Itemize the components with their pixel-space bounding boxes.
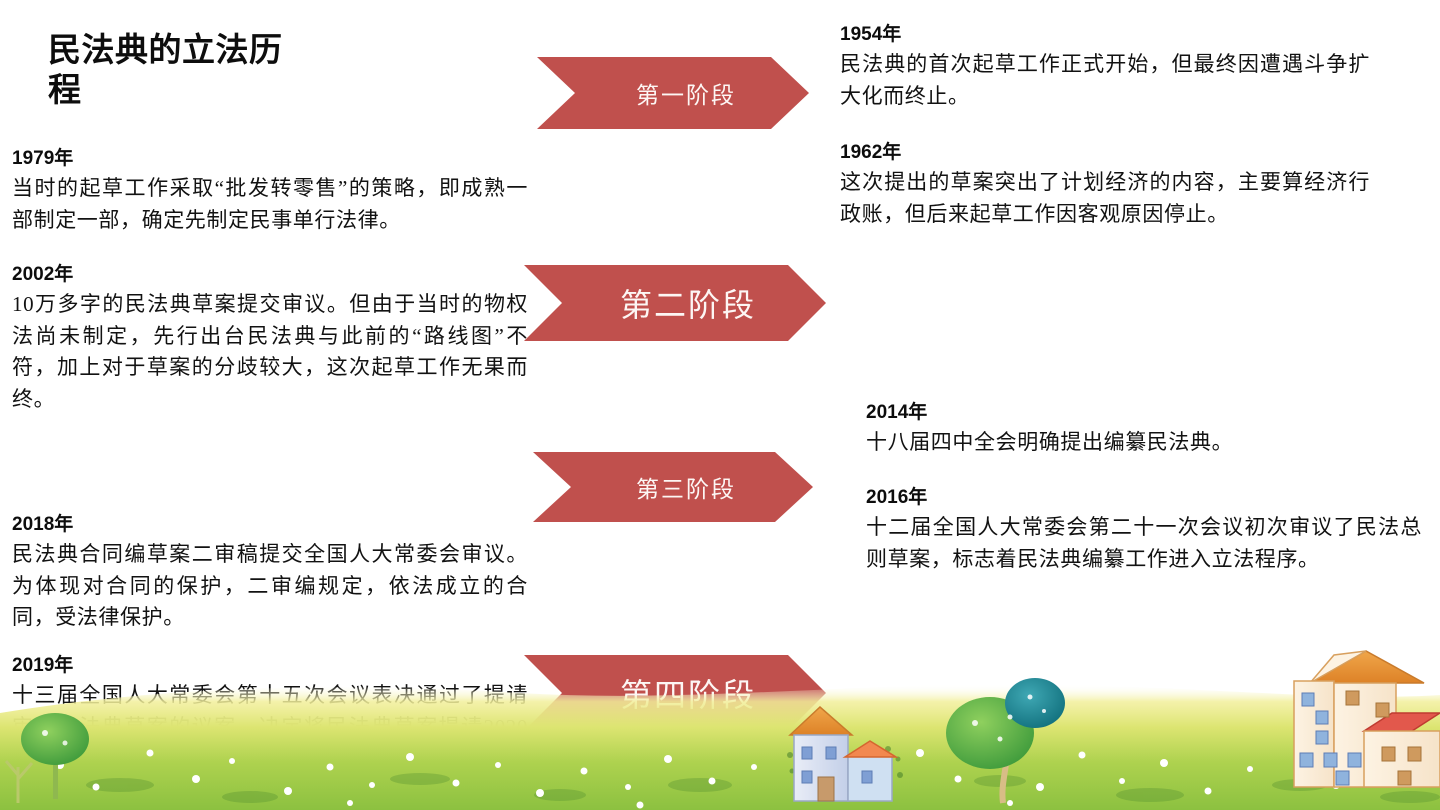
stage-label: 第三阶段 bbox=[610, 470, 736, 504]
entry-body: 10万多字的民法典草案提交审议。但由于当时的物权法尚未制定，先行出台民法典与此前… bbox=[12, 289, 528, 417]
entry-body: 十二届全国人大常委会第二十一次会议初次审议了民法总则草案，标志着民法典编纂工作进… bbox=[866, 512, 1422, 576]
grass-clumps bbox=[86, 773, 1440, 803]
entry-body: 这次提出的草案突出了计划经济的内容，主要算经济行政账，但后来起草工作因客观原因停… bbox=[840, 167, 1370, 231]
heart-flower-trail bbox=[787, 740, 903, 800]
entry-body: 民法典合同编草案二审稿提交全国人大常委会审议。为体现对合同的保护，二审编规定，依… bbox=[12, 539, 528, 635]
stage-label: 第一阶段 bbox=[610, 76, 736, 110]
timeline-entry-2002: 2002年 10万多字的民法典草案提交审议。但由于当时的物权法尚未制定，先行出台… bbox=[12, 262, 528, 416]
entry-year: 1954年 bbox=[840, 22, 1370, 48]
tree-center bbox=[946, 678, 1065, 803]
entry-year: 2014年 bbox=[866, 400, 1422, 426]
timeline-entry-2018: 2018年 民法典合同编草案二审稿提交全国人大常委会审议。为体现对合同的保护，二… bbox=[12, 512, 528, 634]
stage-chevron-3[interactable]: 第三阶段 bbox=[533, 452, 813, 522]
entry-body: 十三届全国人大常委会第十五次会议表决通过了提请审议民法典草案的议案，决定将民法典… bbox=[12, 680, 528, 776]
entry-body: 民法典的首次起草工作正式开始，但最终因遭遇斗争扩大化而终止。 bbox=[840, 49, 1370, 113]
entry-year: 2002年 bbox=[12, 262, 528, 288]
stage-chevron-2[interactable]: 第二阶段 bbox=[524, 265, 826, 341]
stage-chevron-1[interactable]: 第一阶段 bbox=[537, 57, 809, 129]
entry-body: 十八届四中全会明确提出编纂民法典。 bbox=[866, 427, 1422, 459]
timeline-entry-2019: 2019年 十三届全国人大常委会第十五次会议表决通过了提请审议民法典草案的议案，… bbox=[12, 653, 528, 775]
timeline-entry-1979: 1979年 当时的起草工作采取“批发转零售”的策略，即成熟一部制定一部，确定先制… bbox=[12, 146, 528, 236]
house-cream bbox=[1294, 651, 1440, 787]
entry-year: 2018年 bbox=[12, 512, 528, 538]
entry-year: 2016年 bbox=[866, 485, 1422, 511]
house-blue bbox=[790, 707, 896, 801]
slide-canvas: 民法典的立法历 程 1979年 当时的起草工作采取“批发转零售”的策略，即成熟一… bbox=[0, 0, 1440, 810]
stage-label: 第四阶段 bbox=[594, 670, 756, 716]
stage-label: 第二阶段 bbox=[594, 280, 756, 326]
entry-year: 2019年 bbox=[12, 653, 528, 679]
entry-body: 当时的起草工作采取“批发转零售”的策略，即成熟一部制定一部，确定先制定民事单行法… bbox=[12, 173, 528, 237]
entry-year: 1979年 bbox=[12, 146, 528, 172]
page-title: 民法典的立法历 程 bbox=[48, 30, 348, 111]
timeline-entry-1954: 1954年 民法典的首次起草工作正式开始，但最终因遭遇斗争扩大化而终止。 bbox=[840, 22, 1370, 112]
stage-chevron-4[interactable]: 第四阶段 bbox=[524, 655, 826, 731]
entry-year: 1962年 bbox=[840, 140, 1370, 166]
timeline-entry-1962: 1962年 这次提出的草案突出了计划经济的内容，主要算经济行政账，但后来起草工作… bbox=[840, 140, 1370, 230]
timeline-entry-2016: 2016年 十二届全国人大常委会第二十一次会议初次审议了民法总则草案，标志着民法… bbox=[866, 485, 1422, 575]
timeline-entry-2014: 2014年 十八届四中全会明确提出编纂民法典。 bbox=[866, 400, 1422, 459]
